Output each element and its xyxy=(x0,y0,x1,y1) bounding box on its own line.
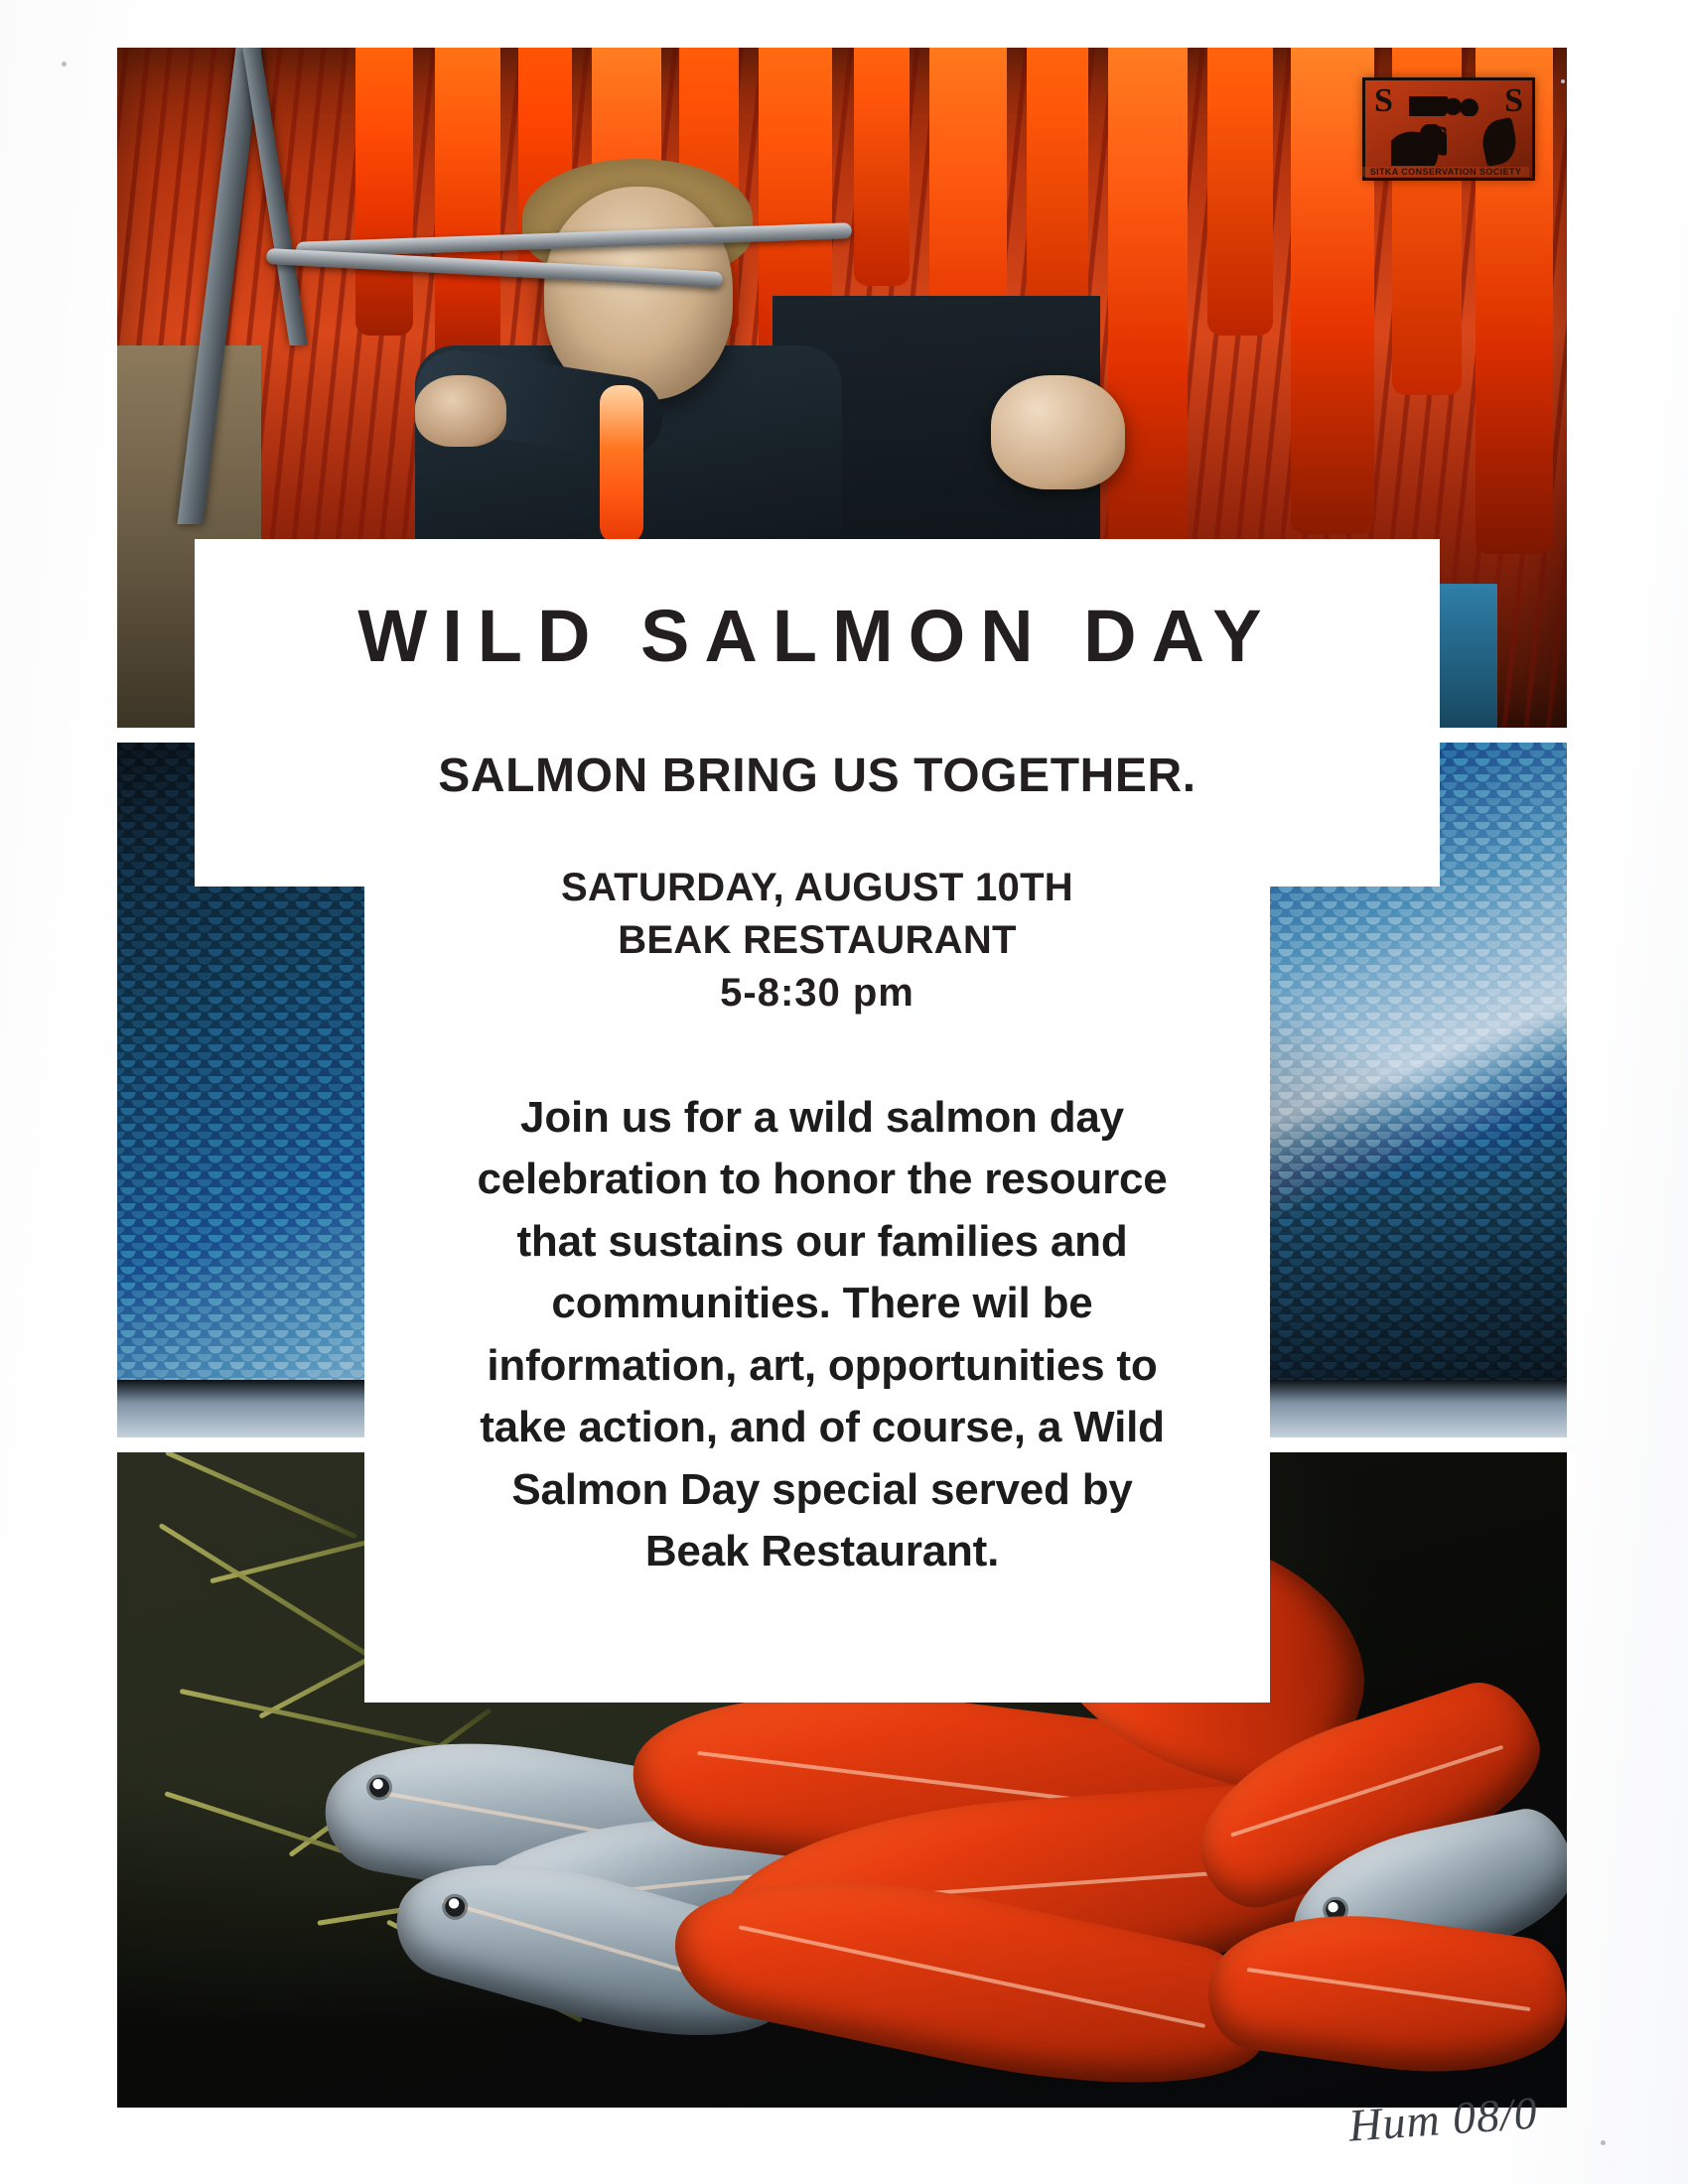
logo-letter-s-right: S xyxy=(1504,82,1523,120)
description-line: communities. There wil be xyxy=(375,1273,1269,1334)
salmon-strip xyxy=(355,48,413,336)
salmon-strip xyxy=(1207,48,1273,336)
description-line: Beak Restaurant. xyxy=(375,1521,1269,1582)
event-time: 5-8:30 pm xyxy=(364,967,1270,1020)
description-line: celebration to honor the resource xyxy=(375,1149,1269,1210)
held-salmon-piece xyxy=(600,385,643,544)
description-line: Salmon Day special served by xyxy=(375,1459,1269,1521)
description-line: take action, and of course, a Wild xyxy=(375,1397,1269,1458)
event-description: Join us for a wild salmon day celebratio… xyxy=(375,1087,1269,1583)
salmon-strip xyxy=(435,48,500,395)
logo-caption: SITKA CONSERVATION SOCIETY xyxy=(1362,167,1529,177)
salmon-strip xyxy=(854,48,910,286)
sitka-conservation-society-logo: S S C xyxy=(1362,77,1535,181)
leaf-icon xyxy=(1478,117,1520,167)
logo-letter-s-left: S xyxy=(1374,82,1393,120)
page-title: WILD SALMON DAY xyxy=(195,600,1440,673)
salmon-strip xyxy=(1108,48,1188,594)
description-line: Join us for a wild salmon day xyxy=(375,1087,1269,1149)
description-line: information, art, opportunities to xyxy=(375,1335,1269,1397)
scan-speck xyxy=(1601,2140,1606,2145)
grass-blade xyxy=(165,1452,357,1539)
event-details: SATURDAY, AUGUST 10TH BEAK RESTAURANT 5-… xyxy=(364,862,1270,1019)
scan-speck xyxy=(62,62,67,67)
child-hand xyxy=(415,375,506,447)
adult-hand xyxy=(991,375,1125,489)
flyer-page: WILD SALMON DAY SALMON BRING US TOGETHER… xyxy=(0,0,1688,2184)
title-panel xyxy=(195,539,1440,887)
logo-brushstroke-icon xyxy=(1409,96,1482,116)
event-date: SATURDAY, AUGUST 10TH xyxy=(364,862,1270,914)
event-venue: BEAK RESTAURANT xyxy=(364,914,1270,967)
scaffold-beam-left2 xyxy=(242,48,308,345)
description-line: that sustains our families and xyxy=(375,1211,1269,1273)
bear-footprint-icon xyxy=(1391,124,1447,166)
tagline: SALMON BRING US TOGETHER. xyxy=(195,752,1440,800)
scan-speck xyxy=(1561,79,1565,83)
